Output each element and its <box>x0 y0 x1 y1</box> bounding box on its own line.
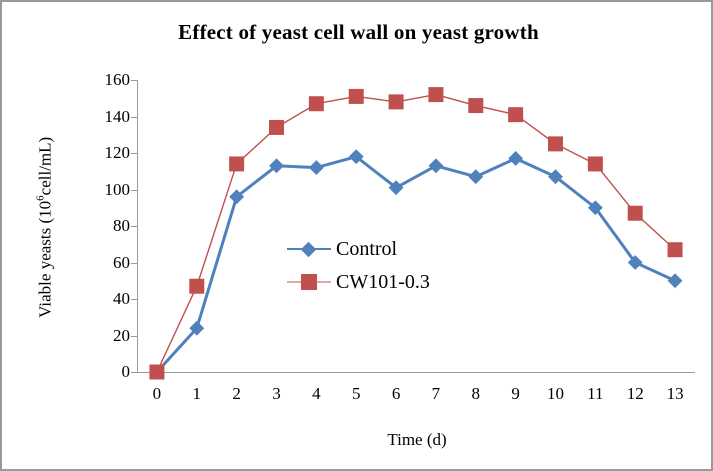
data-point-square[interactable] <box>309 96 324 111</box>
y-tick-label: 0 <box>122 362 131 382</box>
data-point-square[interactable] <box>189 279 204 294</box>
x-tick-label: 7 <box>432 384 441 404</box>
x-tick-label: 4 <box>312 384 321 404</box>
data-point-square[interactable] <box>428 87 443 102</box>
y-axis-title-base: Viable yeasts (10 <box>35 201 54 318</box>
x-tick-label: 2 <box>232 384 241 404</box>
series-line <box>157 95 675 372</box>
square-marker-icon <box>301 274 317 290</box>
x-tick-label: 6 <box>392 384 401 404</box>
x-axis-title: Time (d) <box>137 430 697 450</box>
y-axis-title: Viable yeasts (106cell/mL) <box>35 102 56 352</box>
x-tick-label: 9 <box>511 384 520 404</box>
legend-item-cw101[interactable]: CW101-0.3 <box>287 270 430 294</box>
data-point-square[interactable] <box>149 365 164 380</box>
y-tick-label: 100 <box>105 180 131 200</box>
data-point-square[interactable] <box>668 242 683 257</box>
data-point-square[interactable] <box>269 120 284 135</box>
chart-legend: Control CW101-0.3 <box>287 237 430 294</box>
data-point-diamond[interactable] <box>429 158 444 173</box>
y-tick-label: 140 <box>105 107 131 127</box>
x-tick-label: 3 <box>272 384 281 404</box>
y-tick-mark <box>131 372 137 373</box>
diamond-marker-icon <box>301 241 317 257</box>
y-tick-label: 80 <box>113 216 130 236</box>
data-point-diamond[interactable] <box>309 160 324 175</box>
data-point-square[interactable] <box>389 94 404 109</box>
legend-item-control[interactable]: Control <box>287 237 430 261</box>
x-tick-label: 10 <box>547 384 564 404</box>
x-tick-label: 13 <box>667 384 684 404</box>
y-tick-label: 60 <box>113 253 130 273</box>
data-point-square[interactable] <box>548 136 563 151</box>
x-tick-label: 0 <box>153 384 162 404</box>
data-point-square[interactable] <box>588 156 603 171</box>
legend-swatch-cw101 <box>287 271 331 293</box>
chart-title: Effect of yeast cell wall on yeast growt… <box>2 20 713 45</box>
series-cw101-0-3 <box>149 87 682 379</box>
y-tick-label: 120 <box>105 143 131 163</box>
plot-area: 020406080100120140160 012345678910111213… <box>137 80 695 372</box>
legend-label-control: Control <box>336 238 397 261</box>
data-point-square[interactable] <box>628 206 643 221</box>
legend-swatch-control <box>287 238 331 260</box>
chart-container: Effect of yeast cell wall on yeast growt… <box>0 0 713 471</box>
x-axis-line <box>137 372 695 373</box>
y-axis-title-superscript: 6 <box>35 195 47 201</box>
data-point-square[interactable] <box>508 107 523 122</box>
y-tick-label: 160 <box>105 70 131 90</box>
y-axis-title-tail: cell/mL) <box>35 137 54 196</box>
y-tick-label: 20 <box>113 326 130 346</box>
x-tick-label: 1 <box>193 384 202 404</box>
series-layer <box>137 80 695 372</box>
x-tick-label: 12 <box>627 384 644 404</box>
x-tick-label: 11 <box>587 384 603 404</box>
y-tick-label: 40 <box>113 289 130 309</box>
data-point-square[interactable] <box>229 156 244 171</box>
data-point-diamond[interactable] <box>468 169 483 184</box>
legend-label-cw101: CW101-0.3 <box>336 271 430 294</box>
data-point-diamond[interactable] <box>668 273 683 288</box>
data-point-square[interactable] <box>468 98 483 113</box>
data-point-square[interactable] <box>349 89 364 104</box>
x-tick-label: 5 <box>352 384 361 404</box>
data-point-diamond[interactable] <box>508 151 523 166</box>
x-tick-label: 8 <box>472 384 481 404</box>
